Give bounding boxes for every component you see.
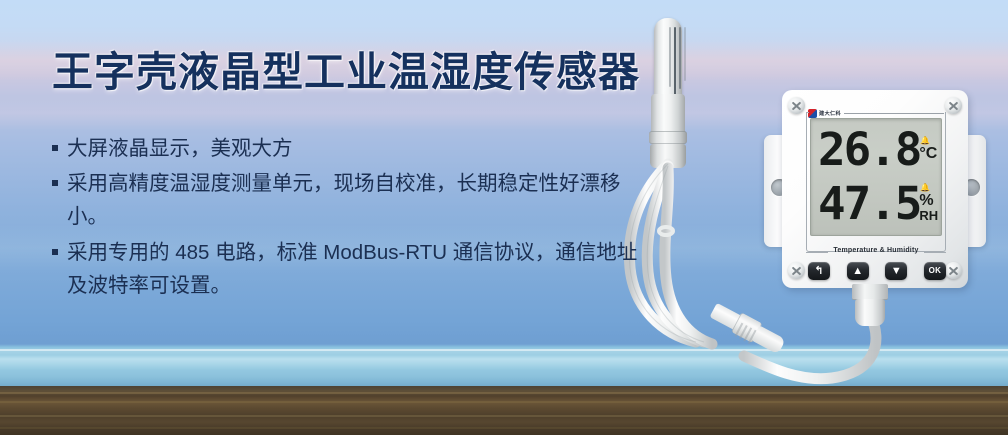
alarm-bell-icon: 🔔: [920, 184, 930, 192]
up-button[interactable]: ▲: [847, 262, 869, 280]
temperature-unit: °C: [919, 146, 937, 162]
probe-vent-slot: [679, 27, 681, 89]
lcd-caption: Temperature & Humidity: [806, 247, 946, 254]
page-title: 王字壳液晶型工业温湿度传感器: [52, 50, 652, 96]
cable-gland: [850, 284, 890, 328]
screw-icon: [788, 262, 805, 279]
feature-text: 大屏液晶显示，美观大方: [67, 132, 652, 165]
keypad: ↰ ▲ ▼ OK: [808, 259, 946, 283]
probe-vented-cap: [654, 18, 682, 104]
humidity-value: 47.5: [818, 181, 920, 226]
temperature-value: 26.8: [818, 127, 920, 172]
down-button[interactable]: ▼: [885, 262, 907, 280]
probe-vent-slot: [669, 27, 671, 87]
gland-nut: [852, 284, 888, 300]
back-button[interactable]: ↰: [808, 262, 830, 280]
lcd-display: 26.8 🔔 °C 47.5 🔔 % RH: [810, 118, 942, 236]
banner-text-block: 王字壳液晶型工业温湿度传感器 大屏液晶显示，美观大方 采用高精度温湿度测量单元，…: [52, 50, 652, 304]
feature-text: 采用高精度温湿度测量单元，现场自校准，长期稳定性好漂移小。: [67, 167, 652, 233]
bullet-square-icon: [52, 249, 58, 255]
bullet-square-icon: [52, 180, 58, 186]
ok-button[interactable]: OK: [924, 262, 946, 280]
screw-icon: [788, 97, 805, 114]
probe-vent-slot: [674, 27, 676, 95]
screw-icon: [945, 97, 962, 114]
list-item: 采用专用的 485 电路，标准 ModBus-RTU 通信协议，通信地址及波特率…: [52, 236, 652, 302]
lcd-temperature-row: 26.8 🔔 °C: [811, 122, 942, 176]
humidity-unit-sub: RH: [919, 209, 938, 223]
feature-text: 采用专用的 485 电路，标准 ModBus-RTU 通信协议，通信地址及波特率…: [67, 236, 652, 302]
product-image: 建大仁科 26.8 🔔 °C 47.5 🔔 % RH: [604, 18, 1008, 418]
gland-body: [855, 299, 885, 326]
list-item: 采用高精度温湿度测量单元，现场自校准，长期稳定性好漂移小。: [52, 167, 652, 233]
connector-plug: [751, 325, 785, 354]
screw-icon: [945, 262, 962, 279]
humidity-unit-group: 🔔 % RH: [919, 184, 938, 223]
temperature-unit-group: 🔔 °C: [919, 137, 937, 162]
product-banner: 王字壳液晶型工业温湿度传感器 大屏液晶显示，美观大方 采用高精度温湿度测量单元，…: [0, 0, 1008, 435]
earth-streak: [0, 427, 1008, 429]
sensor-enclosure: 建大仁科 26.8 🔔 °C 47.5 🔔 % RH: [764, 90, 986, 288]
probe-vent-slot: [684, 27, 686, 81]
lcd-humidity-row: 47.5 🔔 % RH: [811, 176, 942, 230]
feature-list: 大屏液晶显示，美观大方 采用高精度温湿度测量单元，现场自校准，长期稳定性好漂移小…: [52, 132, 652, 302]
list-item: 大屏液晶显示，美观大方: [52, 132, 652, 165]
humidity-unit: %: [919, 193, 933, 209]
alarm-bell-icon: 🔔: [920, 137, 930, 145]
bullet-square-icon: [52, 145, 58, 151]
